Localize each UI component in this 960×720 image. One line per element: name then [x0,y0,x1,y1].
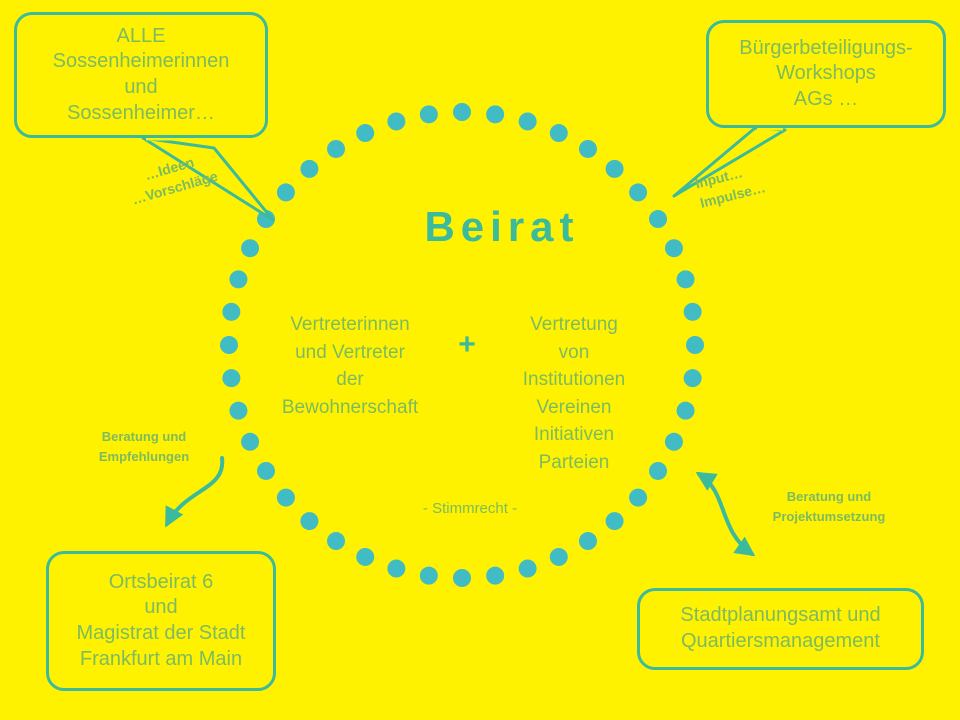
footnote-stimmrecht: - Stimmrecht - [350,500,590,517]
circle-dot [277,489,295,507]
circle-dot [356,548,374,566]
circle-dot [277,183,295,201]
circle-dot [220,336,238,354]
circle-dot [665,433,683,451]
circle-dot [453,103,471,121]
label-beratung-projekt-line-1: Beratung und [745,487,913,507]
circle-dot [420,105,438,123]
box-stadtplanung[interactable]: Stadtplanungsamt und Quartiersmanagement [637,588,924,670]
bubble-citizens-line-2: Sossenheimerinnen [53,49,230,75]
circle-dot [327,532,345,550]
circle-dot [519,560,537,578]
column-institutions-line-4: Vereinen [489,394,659,422]
circle-dot [606,160,624,178]
circle-dot [486,105,504,123]
circle-dot [241,433,259,451]
column-residents: Vertreterinnen und Vertreter der Bewohne… [262,311,438,421]
column-institutions-line-1: Vertretung [489,311,659,339]
box-stadtplanung-line-1: Stadtplanungsamt und [680,603,880,629]
column-institutions: Vertretung von Institutionen Vereinen In… [489,311,659,476]
bubble-workshops-line-1: Bürgerbeteiligungs- [739,36,912,62]
circle-dot [606,512,624,530]
bubble-citizens-line-4: Sossenheimer… [67,101,215,127]
circle-dot [257,462,275,480]
diagram-canvas: ALLE Sossenheimerinnen und Sossenheimer…… [0,0,960,720]
column-institutions-line-3: Institutionen [489,366,659,394]
circle-dot [356,124,374,142]
circle-dot [684,303,702,321]
circle-dot [677,402,695,420]
circle-dot [229,402,247,420]
circle-dot [684,369,702,387]
box-ortsbeirat-line-3: Magistrat der Stadt [77,621,246,647]
circle-dot [550,548,568,566]
circle-dot [300,160,318,178]
column-institutions-line-5: Initiativen [489,421,659,449]
circle-dot [229,270,247,288]
circle-dot [453,569,471,587]
arrow-beratung-empfehlungen [167,458,222,524]
circle-dot [629,183,647,201]
circle-dot [420,567,438,585]
circle-dot [519,112,537,130]
column-institutions-line-6: Parteien [489,449,659,477]
circle-dot [677,270,695,288]
circle-dot [222,303,240,321]
bubble-citizens[interactable]: ALLE Sossenheimerinnen und Sossenheimer… [14,12,268,138]
bubble-citizens-line-1: ALLE [117,24,166,50]
box-ortsbeirat-line-1: Ortsbeirat 6 [109,570,213,596]
circle-dot [300,512,318,530]
box-ortsbeirat-line-2: und [144,595,177,621]
circle-dot [327,140,345,158]
circle-dot [486,567,504,585]
circle-dot [387,112,405,130]
column-residents-line-3: der [262,366,438,394]
column-residents-line-1: Vertreterinnen [262,311,438,339]
column-residents-line-4: Bewohnerschaft [262,394,438,422]
circle-dot [629,489,647,507]
circle-dot [686,336,704,354]
box-stadtplanung-line-2: Quartiersmanagement [681,629,880,655]
bubble-workshops-line-2: Workshops [776,61,876,87]
column-residents-line-2: und Vertreter [262,339,438,367]
plus-icon: + [447,328,487,362]
box-ortsbeirat-line-4: Frankfurt am Main [80,647,242,673]
circle-dot [222,369,240,387]
page-title: Beirat [0,203,960,251]
bubble-workshops[interactable]: Bürgerbeteiligungs- Workshops AGs … [706,20,946,128]
box-ortsbeirat[interactable]: Ortsbeirat 6 und Magistrat der Stadt Fra… [46,551,276,691]
label-beratung-empfehlungen: Beratung und Empfehlungen [79,427,209,466]
label-beratung-empfehlungen-line-1: Beratung und [79,427,209,447]
label-beratung-projekt-line-2: Projektumsetzung [745,507,913,527]
bubble-citizens-line-3: und [124,75,157,101]
circle-dot [387,560,405,578]
circle-dot [550,124,568,142]
label-beratung-empfehlungen-line-2: Empfehlungen [79,447,209,467]
circle-dot [579,140,597,158]
bubble-workshops-line-3: AGs … [794,87,858,113]
column-institutions-line-2: von [489,339,659,367]
label-beratung-projektumsetzung: Beratung und Projektumsetzung [745,487,913,526]
circle-dot [579,532,597,550]
